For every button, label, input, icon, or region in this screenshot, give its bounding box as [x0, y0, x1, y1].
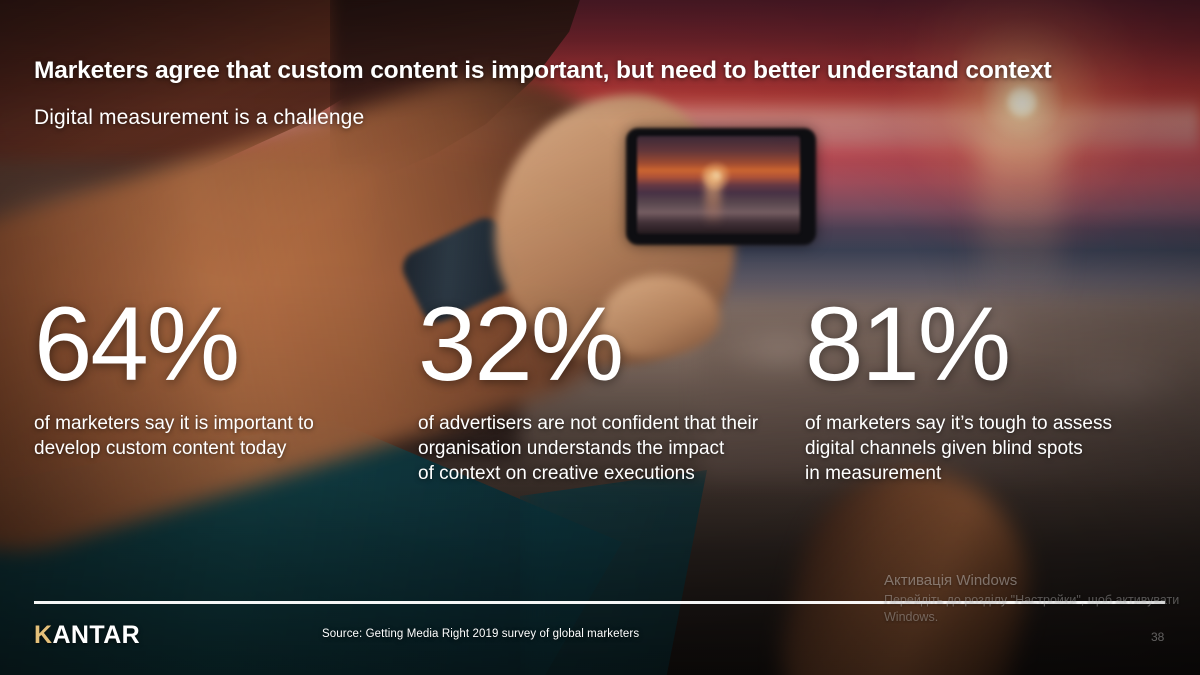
windows-activation-watermark: Активація Windows Перейдіть до розділу "…: [884, 571, 1184, 626]
windows-activation-subtitle: Перейдіть до розділу "Настройки", щоб ак…: [884, 592, 1184, 626]
kantar-logo-wordmark: ANTAR: [52, 621, 140, 649]
slide-subtitle: Digital measurement is a challenge: [34, 106, 364, 130]
statistic-description: of marketers say it is important to deve…: [34, 411, 404, 461]
slide-title: Marketers agree that custom content is i…: [34, 57, 1051, 85]
slide-content: Marketers agree that custom content is i…: [0, 0, 1200, 675]
kantar-logo: KANTAR: [34, 623, 140, 648]
page-number: 38: [1151, 630, 1164, 644]
presentation-slide: Marketers agree that custom content is i…: [0, 0, 1200, 675]
statistics-row: 64% of marketers say it is important to …: [0, 292, 1200, 502]
kantar-logo-accent-letter: K: [34, 621, 52, 649]
statistic-value: 81%: [805, 292, 1175, 397]
statistic-description: of advertisers are not confident that th…: [418, 411, 793, 486]
statistic-value: 32%: [418, 292, 793, 397]
statistic-block-3: 81% of marketers say it’s tough to asses…: [805, 292, 1175, 486]
windows-activation-title: Активація Windows: [884, 571, 1184, 591]
statistic-block-1: 64% of marketers say it is important to …: [34, 292, 404, 461]
statistic-block-2: 32% of advertisers are not confident tha…: [418, 292, 793, 486]
source-citation: Source: Getting Media Right 2019 survey …: [322, 628, 639, 640]
statistic-value: 64%: [34, 292, 404, 397]
statistic-description: of marketers say it’s tough to assess di…: [805, 411, 1175, 486]
